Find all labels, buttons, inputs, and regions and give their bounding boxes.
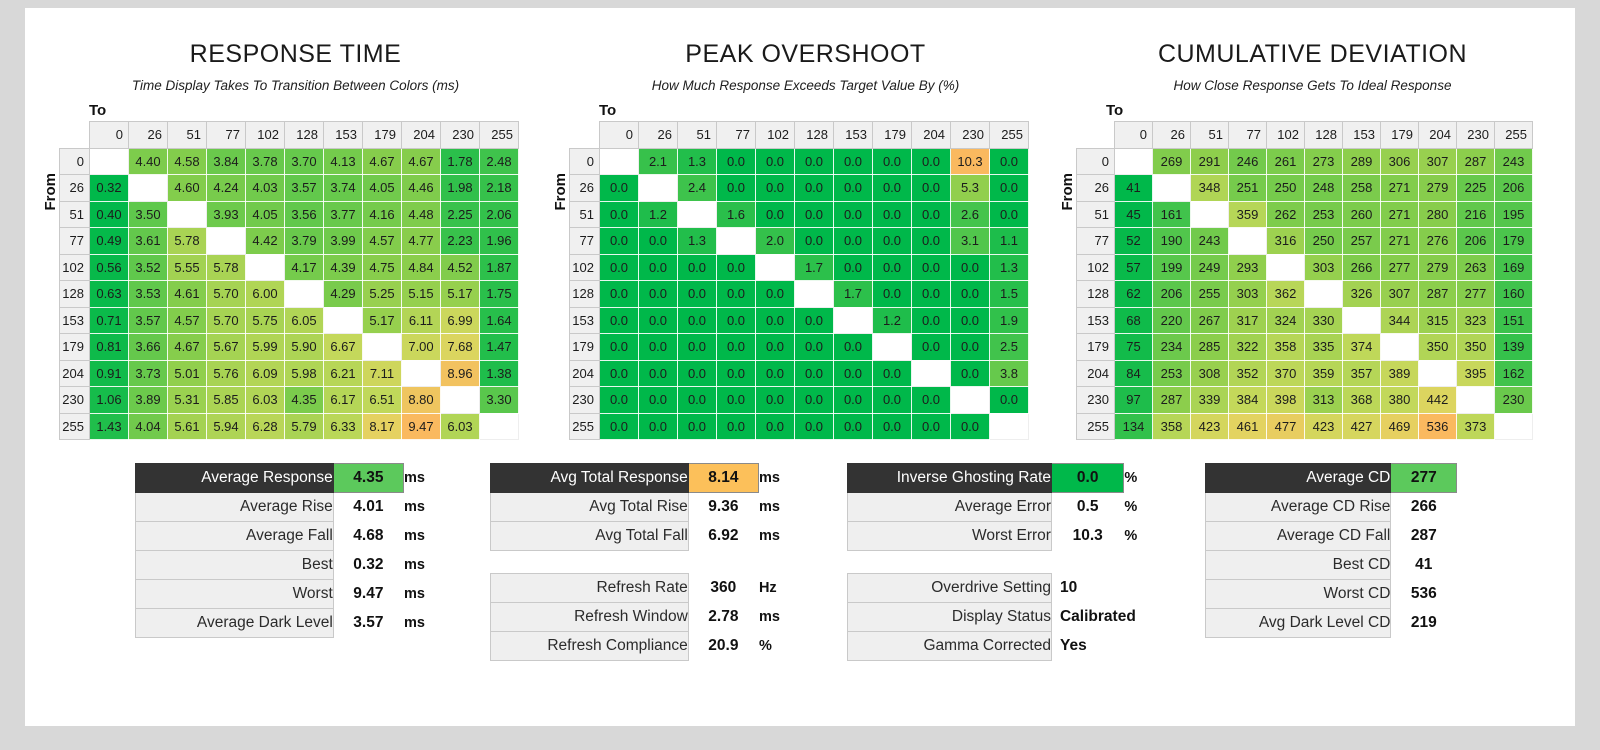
row-header-102: 102 <box>570 254 600 281</box>
heatmap-cell: 4.29 <box>324 281 363 308</box>
panel-subtitle: Time Display Takes To Transition Between… <box>43 78 548 93</box>
heatmap-cell: 0.0 <box>873 228 912 255</box>
panel-cumulative-deviation: CUMULATIVE DEVIATION How Close Response … <box>1060 8 1565 440</box>
heatmap-cell: 246 <box>1229 148 1267 175</box>
heatmap-cell: 0.0 <box>795 307 834 334</box>
heatmap-cell: 5.31 <box>168 387 207 414</box>
heatmap-cell: 5.67 <box>207 334 246 361</box>
stat-row: Average CD Fall287 <box>1206 522 1505 551</box>
column-header-255: 255 <box>480 122 519 149</box>
heatmap-cell: 68 <box>1115 307 1153 334</box>
heatmap-cell: 41 <box>1115 175 1153 202</box>
stat-label: Refresh Rate <box>491 574 689 603</box>
heatmap-cell: 5.70 <box>207 307 246 334</box>
heatmap-cell: 0.49 <box>90 228 129 255</box>
stat-label: Refresh Window <box>491 603 689 632</box>
heatmap-cell: 5.75 <box>246 307 285 334</box>
column-header-204: 204 <box>912 122 951 149</box>
stat-unit <box>1457 493 1505 522</box>
heatmap-cell: 384 <box>1229 387 1267 414</box>
heatmap-cell: 536 <box>1419 413 1457 440</box>
column-header-77: 77 <box>1229 122 1267 149</box>
column-header-179: 179 <box>873 122 912 149</box>
heatmap-cell: 5.99 <box>246 334 285 361</box>
heatmap-cell: 0.0 <box>912 387 951 414</box>
stat-value: 266 <box>1391 493 1457 522</box>
heatmap-cell-diagonal <box>678 201 717 228</box>
column-header-26: 26 <box>129 122 168 149</box>
heatmap-cell: 161 <box>1153 201 1191 228</box>
heatmap-row: 23097287339384398313368380442230 <box>1077 387 1533 414</box>
row-header-230: 230 <box>60 387 90 414</box>
stat-unit: ms <box>403 609 454 638</box>
heatmap-cell: 5.78 <box>168 228 207 255</box>
heatmap-row: 2040.00.00.00.00.00.00.00.00.03.8 <box>570 360 1029 387</box>
heatmap-cell: 0.0 <box>717 148 756 175</box>
stat-value: 219 <box>1391 609 1457 638</box>
row-header-230: 230 <box>1077 387 1115 414</box>
heatmap-cell: 287 <box>1153 387 1191 414</box>
heatmap-cell: 2.5 <box>990 334 1029 361</box>
axis-label-to: To <box>599 102 1058 120</box>
panel-peak-overshoot: PEAK OVERSHOOT How Much Response Exceeds… <box>553 8 1058 440</box>
heatmap-cell: 277 <box>1457 281 1495 308</box>
heatmap-row: 04.404.583.843.783.704.134.674.671.782.4… <box>60 148 519 175</box>
heatmap-cell: 6.03 <box>441 413 480 440</box>
heatmap-cell: 234 <box>1153 334 1191 361</box>
heatmap-cell: 359 <box>1305 360 1343 387</box>
heatmap-cell: 293 <box>1229 254 1267 281</box>
heatmap-cell: 4.05 <box>246 201 285 228</box>
heatmap-cell: 0.0 <box>639 281 678 308</box>
heatmap-row: 260.324.604.244.033.573.744.054.461.982.… <box>60 175 519 202</box>
column-header-0: 0 <box>1115 122 1153 149</box>
heatmap-row: 20484253308352370359357389395162 <box>1077 360 1533 387</box>
heatmap-cell-diagonal <box>1115 148 1153 175</box>
stat-unit: ms <box>758 493 809 522</box>
heatmap-cell-diagonal <box>873 334 912 361</box>
panel-title: CUMULATIVE DEVIATION <box>1060 40 1565 69</box>
heatmap-cell-diagonal <box>1419 360 1457 387</box>
heatmap-cell-diagonal <box>1343 307 1381 334</box>
heatmap-cell: 0.0 <box>873 148 912 175</box>
heatmap-cell: 313 <box>1305 387 1343 414</box>
row-header-179: 179 <box>60 334 90 361</box>
heatmap-cell: 0.0 <box>912 175 951 202</box>
heatmap-cell-diagonal <box>912 360 951 387</box>
heatmap-cell: 1.43 <box>90 413 129 440</box>
heatmap-cell-diagonal <box>90 148 129 175</box>
heatmap-cell: 0.0 <box>912 307 951 334</box>
row-header-0: 0 <box>570 148 600 175</box>
stat-row: Refresh Window2.78ms <box>491 603 810 632</box>
heatmap-cell: 4.67 <box>363 148 402 175</box>
heatmap-table: 026517710212815317920423025502.11.30.00.… <box>569 121 1029 440</box>
heatmap-cell: 97 <box>1115 387 1153 414</box>
heatmap-cell: 1.5 <box>990 281 1029 308</box>
heatmap-cell: 0.0 <box>717 360 756 387</box>
heatmap-row: 2301.063.895.315.856.034.356.176.518.803… <box>60 387 519 414</box>
heatmap-table: 0265177102128153179204230255026929124626… <box>1076 121 1533 440</box>
heatmap-cell: 0.0 <box>834 387 873 414</box>
heatmap-cell: 269 <box>1153 148 1191 175</box>
heatmap-cell: 1.6 <box>717 201 756 228</box>
stat-value: 10.3 <box>1051 522 1123 551</box>
heatmap-row: 5145161359262253260271280216195 <box>1077 201 1533 228</box>
heatmap-cell: 3.53 <box>129 281 168 308</box>
stat-row: Overdrive Setting10 <box>848 574 1177 603</box>
heatmap-cell: 4.40 <box>129 148 168 175</box>
heatmap-cell: 5.17 <box>441 281 480 308</box>
stat-unit: % <box>1124 522 1177 551</box>
heatmap-cell: 5.61 <box>168 413 207 440</box>
heatmap-cell: 0.0 <box>873 413 912 440</box>
heatmap-cell-diagonal <box>951 387 990 414</box>
heatmap-cell: 4.61 <box>168 281 207 308</box>
heatmap-cell: 0.0 <box>912 334 951 361</box>
heatmap-cell: 0.0 <box>795 201 834 228</box>
row-header-0: 0 <box>60 148 90 175</box>
stat-row: Best CD41 <box>1206 551 1505 580</box>
column-header-26: 26 <box>639 122 678 149</box>
heatmap-cell: 0.0 <box>756 281 795 308</box>
heatmap-cell: 348 <box>1191 175 1229 202</box>
axis-label-to: To <box>89 102 548 120</box>
heatmap-cell-diagonal <box>717 228 756 255</box>
heatmap-cell: 251 <box>1229 175 1267 202</box>
heatmap-cell: 260 <box>1343 201 1381 228</box>
heatmap-cell: 5.78 <box>207 254 246 281</box>
heatmap-cell: 0.0 <box>834 201 873 228</box>
stat-unit <box>1124 632 1177 661</box>
column-header-255: 255 <box>1495 122 1533 149</box>
heatmap-cell: 3.84 <box>207 148 246 175</box>
stat-unit: ms <box>403 551 454 580</box>
panel-response-time: RESPONSE TIME Time Display Takes To Tran… <box>43 8 548 440</box>
heatmap-cell: 4.35 <box>285 387 324 414</box>
stat-label: Refresh Compliance <box>491 632 689 661</box>
column-header-204: 204 <box>1419 122 1457 149</box>
column-header-230: 230 <box>1457 122 1495 149</box>
heatmap-cell: 3.1 <box>951 228 990 255</box>
heatmap-cell: 330 <box>1305 307 1343 334</box>
heatmap-cell-diagonal <box>1267 254 1305 281</box>
heatmap-cell: 45 <box>1115 201 1153 228</box>
column-header-230: 230 <box>441 122 480 149</box>
heatmap-cell-diagonal <box>324 307 363 334</box>
heatmap-cell-diagonal <box>1305 281 1343 308</box>
heatmap-cell: 2.6 <box>951 201 990 228</box>
heatmap-cell: 7.68 <box>441 334 480 361</box>
heatmap-cell: 5.55 <box>168 254 207 281</box>
heatmap-cell: 362 <box>1267 281 1305 308</box>
heatmap-cell: 423 <box>1305 413 1343 440</box>
row-header-179: 179 <box>1077 334 1115 361</box>
stat-value: 2.78 <box>688 603 758 632</box>
stat-label: Overdrive Setting <box>848 574 1052 603</box>
column-header-179: 179 <box>363 122 402 149</box>
heatmap-cell: 1.96 <box>480 228 519 255</box>
heatmap-cell: 225 <box>1457 175 1495 202</box>
row-header-255: 255 <box>1077 413 1115 440</box>
heatmap-row: 12862206255303362326307287277160 <box>1077 281 1533 308</box>
stat-row: Avg Total Fall6.92ms <box>491 522 810 551</box>
heatmap-cell: 5.79 <box>285 413 324 440</box>
heatmap-cell: 0.0 <box>678 254 717 281</box>
stat-value: 10 <box>1051 574 1123 603</box>
report-page: RESPONSE TIME Time Display Takes To Tran… <box>25 8 1575 726</box>
stat-unit <box>1457 580 1505 609</box>
heatmap-cell-diagonal <box>990 413 1029 440</box>
stat-unit <box>1457 609 1505 638</box>
heatmap-cell: 0.0 <box>678 387 717 414</box>
heatmap-cell: 0.0 <box>600 413 639 440</box>
heatmap-cell: 271 <box>1381 228 1419 255</box>
stat-unit: % <box>1124 493 1177 522</box>
heatmap-cell: 0.0 <box>834 360 873 387</box>
heatmap-cell: 1.2 <box>873 307 912 334</box>
heatmap-cell: 9.47 <box>402 413 441 440</box>
heatmap-cell: 271 <box>1381 175 1419 202</box>
column-header-128: 128 <box>795 122 834 149</box>
heatmap-cell: 134 <box>1115 413 1153 440</box>
heatmap-cell: 5.01 <box>168 360 207 387</box>
heatmap-cell: 0.0 <box>951 254 990 281</box>
heatmap-cell: 0.0 <box>756 387 795 414</box>
heatmap-cell-diagonal <box>1381 334 1419 361</box>
grid-corner <box>570 122 600 149</box>
heatmap-cell: 2.0 <box>756 228 795 255</box>
panel-title: RESPONSE TIME <box>43 40 548 69</box>
heatmap-cell: 279 <box>1419 175 1457 202</box>
stat-unit: ms <box>403 493 454 522</box>
heatmap-cell: 199 <box>1153 254 1191 281</box>
heatmap-cell: 255 <box>1191 281 1229 308</box>
heatmap-cell: 1.47 <box>480 334 519 361</box>
heatmap-cell: 0.0 <box>756 360 795 387</box>
heatmap-cell: 0.0 <box>678 307 717 334</box>
stat-row: Refresh Rate360Hz <box>491 574 810 603</box>
grid-corner <box>60 122 90 149</box>
column-header-51: 51 <box>1191 122 1229 149</box>
stat-row: Average CD Rise266 <box>1206 493 1505 522</box>
heatmap-cell: 287 <box>1419 281 1457 308</box>
heatmap-cell: 279 <box>1419 254 1457 281</box>
heatmap-cell: 0.0 <box>912 254 951 281</box>
heatmap-cell: 4.05 <box>363 175 402 202</box>
heatmap-cell: 1.78 <box>441 148 480 175</box>
heatmap-cell-diagonal <box>1495 413 1533 440</box>
heatmap-cell: 3.99 <box>324 228 363 255</box>
stat-label: Avg Dark Level CD <box>1206 609 1391 638</box>
stats-table: Overdrive Setting10Display StatusCalibra… <box>847 573 1177 661</box>
heatmap-cell: 344 <box>1381 307 1419 334</box>
stat-row: Inverse Ghosting Rate0.0% <box>848 464 1177 493</box>
heatmap-cell: 0.0 <box>951 413 990 440</box>
heatmap-cell-diagonal <box>756 254 795 281</box>
stat-label: Average Fall <box>136 522 334 551</box>
row-header-255: 255 <box>570 413 600 440</box>
heatmap-cell: 398 <box>1267 387 1305 414</box>
heatmap-cell: 326 <box>1343 281 1381 308</box>
heatmap-cell: 266 <box>1343 254 1381 281</box>
heatmap-cell: 1.87 <box>480 254 519 281</box>
heatmap-cell: 306 <box>1381 148 1419 175</box>
heatmap-cell: 0.0 <box>834 334 873 361</box>
heatmap-cell: 3.52 <box>129 254 168 281</box>
heatmap-cell: 190 <box>1153 228 1191 255</box>
heatmap-cell: 0.0 <box>678 360 717 387</box>
stat-value: 4.35 <box>333 464 403 493</box>
heatmap-row: 1280.633.534.615.706.004.295.255.155.171… <box>60 281 519 308</box>
row-header-77: 77 <box>60 228 90 255</box>
heatmap-cell: 4.17 <box>285 254 324 281</box>
stat-row: Avg Total Rise9.36ms <box>491 493 810 522</box>
heatmap-cell: 179 <box>1495 228 1533 255</box>
row-header-0: 0 <box>1077 148 1115 175</box>
heatmap-cell: 4.42 <box>246 228 285 255</box>
heatmap-cell: 6.67 <box>324 334 363 361</box>
column-header-102: 102 <box>756 122 795 149</box>
column-header-0: 0 <box>90 122 129 149</box>
stat-value: 536 <box>1391 580 1457 609</box>
heatmap-cell: 6.21 <box>324 360 363 387</box>
heatmap-cell: 5.70 <box>207 281 246 308</box>
heatmap-cell: 287 <box>1457 148 1495 175</box>
heatmap-cell: 316 <box>1267 228 1305 255</box>
column-header-102: 102 <box>246 122 285 149</box>
stat-label: Avg Total Fall <box>491 522 689 551</box>
heatmap-cell: 169 <box>1495 254 1533 281</box>
heatmap-cell: 267 <box>1191 307 1229 334</box>
heatmap-cell: 6.33 <box>324 413 363 440</box>
axis-label-from: From <box>1059 173 1076 211</box>
row-header-128: 128 <box>570 281 600 308</box>
heatmap-cell: 250 <box>1305 228 1343 255</box>
heatmap-cell: 2.48 <box>480 148 519 175</box>
heatmap-cell: 350 <box>1457 334 1495 361</box>
stat-value: 20.9 <box>688 632 758 661</box>
stat-unit: % <box>758 632 809 661</box>
row-header-204: 204 <box>570 360 600 387</box>
stat-unit: ms <box>403 580 454 609</box>
stat-row: Average Fall4.68ms <box>136 522 455 551</box>
heatmap-cell: 0.0 <box>795 334 834 361</box>
stats-table: Inverse Ghosting Rate0.0%Average Error0.… <box>847 463 1177 551</box>
heatmap-cell: 0.0 <box>600 334 639 361</box>
heatmap-cell: 3.56 <box>285 201 324 228</box>
heatmap-cell: 0.0 <box>834 175 873 202</box>
axis-label-from: From <box>42 173 59 211</box>
heatmap-cell: 0.0 <box>834 148 873 175</box>
heatmap-cell: 0.0 <box>873 254 912 281</box>
heatmap-cell: 253 <box>1305 201 1343 228</box>
heatmap-cell: 3.93 <box>207 201 246 228</box>
heatmap-row: 260.02.40.00.00.00.00.00.05.30.0 <box>570 175 1029 202</box>
heatmap-cell: 0.0 <box>756 307 795 334</box>
row-header-51: 51 <box>570 201 600 228</box>
heatmap-cell: 357 <box>1343 360 1381 387</box>
heatmap-cell: 0.0 <box>600 228 639 255</box>
stats-column-ghosting: Inverse Ghosting Rate0.0%Average Error0.… <box>847 463 1177 661</box>
heatmap-cell: 262 <box>1267 201 1305 228</box>
stat-unit <box>1124 574 1177 603</box>
heatmap-row: 1280.00.00.00.00.01.70.00.00.01.5 <box>570 281 1029 308</box>
heatmap-cell: 0.0 <box>951 281 990 308</box>
heatmap-cell: 0.0 <box>990 175 1029 202</box>
column-header-255: 255 <box>990 122 1029 149</box>
stat-label: Best <box>136 551 334 580</box>
heatmap-cell: 0.0 <box>873 201 912 228</box>
heatmap-row: 1790.813.664.675.675.995.906.677.007.681… <box>60 334 519 361</box>
heatmap-cell: 3.61 <box>129 228 168 255</box>
row-header-77: 77 <box>1077 228 1115 255</box>
heatmap-cell: 3.8 <box>990 360 1029 387</box>
heatmap-cell: 1.3 <box>990 254 1029 281</box>
stat-value: 6.92 <box>688 522 758 551</box>
heatmap-cell: 0.0 <box>756 148 795 175</box>
heatmap-cell: 1.3 <box>678 228 717 255</box>
row-header-102: 102 <box>60 254 90 281</box>
heatmap-cell: 0.0 <box>873 387 912 414</box>
heatmap-cell: 0.0 <box>717 254 756 281</box>
heatmap-cell: 6.17 <box>324 387 363 414</box>
heatmap-cell: 0.0 <box>951 307 990 334</box>
column-header-153: 153 <box>1343 122 1381 149</box>
stats-table: Avg Total Response8.14msAvg Total Rise9.… <box>490 463 810 551</box>
heatmap-cell: 339 <box>1191 387 1229 414</box>
heatmap-cell: 0.0 <box>639 413 678 440</box>
heatmap-cell: 303 <box>1229 281 1267 308</box>
heatmap-cell: 258 <box>1343 175 1381 202</box>
stat-unit: ms <box>403 464 454 493</box>
heatmap-cell: 263 <box>1457 254 1495 281</box>
stat-row: Worst Error10.3% <box>848 522 1177 551</box>
heatmap-cell: 206 <box>1495 175 1533 202</box>
heatmap-cell: 0.0 <box>717 334 756 361</box>
stat-value: 0.5 <box>1051 493 1123 522</box>
stat-label: Worst Error <box>848 522 1052 551</box>
heatmap-cell-diagonal <box>1191 201 1229 228</box>
stat-value: 9.36 <box>688 493 758 522</box>
stat-value: 3.57 <box>333 609 403 638</box>
heatmap-cell-diagonal <box>207 228 246 255</box>
heatmap-cell: 0.0 <box>990 387 1029 414</box>
heatmap-cell: 4.24 <box>207 175 246 202</box>
heatmap-cell: 0.0 <box>600 387 639 414</box>
heatmap-cell: 0.0 <box>912 281 951 308</box>
heatmap-cell: 0.0 <box>951 360 990 387</box>
heatmap-cell: 0.0 <box>639 307 678 334</box>
heatmap-cell: 3.57 <box>285 175 324 202</box>
heatmap-cell: 2.4 <box>678 175 717 202</box>
grid-corner <box>1077 122 1115 149</box>
column-header-153: 153 <box>324 122 363 149</box>
heatmap-cell: 0.0 <box>834 228 873 255</box>
row-header-102: 102 <box>1077 254 1115 281</box>
row-header-51: 51 <box>1077 201 1115 228</box>
heatmap-cell: 162 <box>1495 360 1533 387</box>
spacer <box>847 551 1177 573</box>
stat-label: Average CD <box>1206 464 1391 493</box>
heatmap-cell: 0.0 <box>756 175 795 202</box>
heatmap-cell: 139 <box>1495 334 1533 361</box>
heatmap-cell: 5.25 <box>363 281 402 308</box>
heatmap-cell: 1.64 <box>480 307 519 334</box>
heatmap-cell: 358 <box>1153 413 1191 440</box>
heatmap-cell: 0.0 <box>834 254 873 281</box>
heatmap-cell: 280 <box>1419 201 1457 228</box>
